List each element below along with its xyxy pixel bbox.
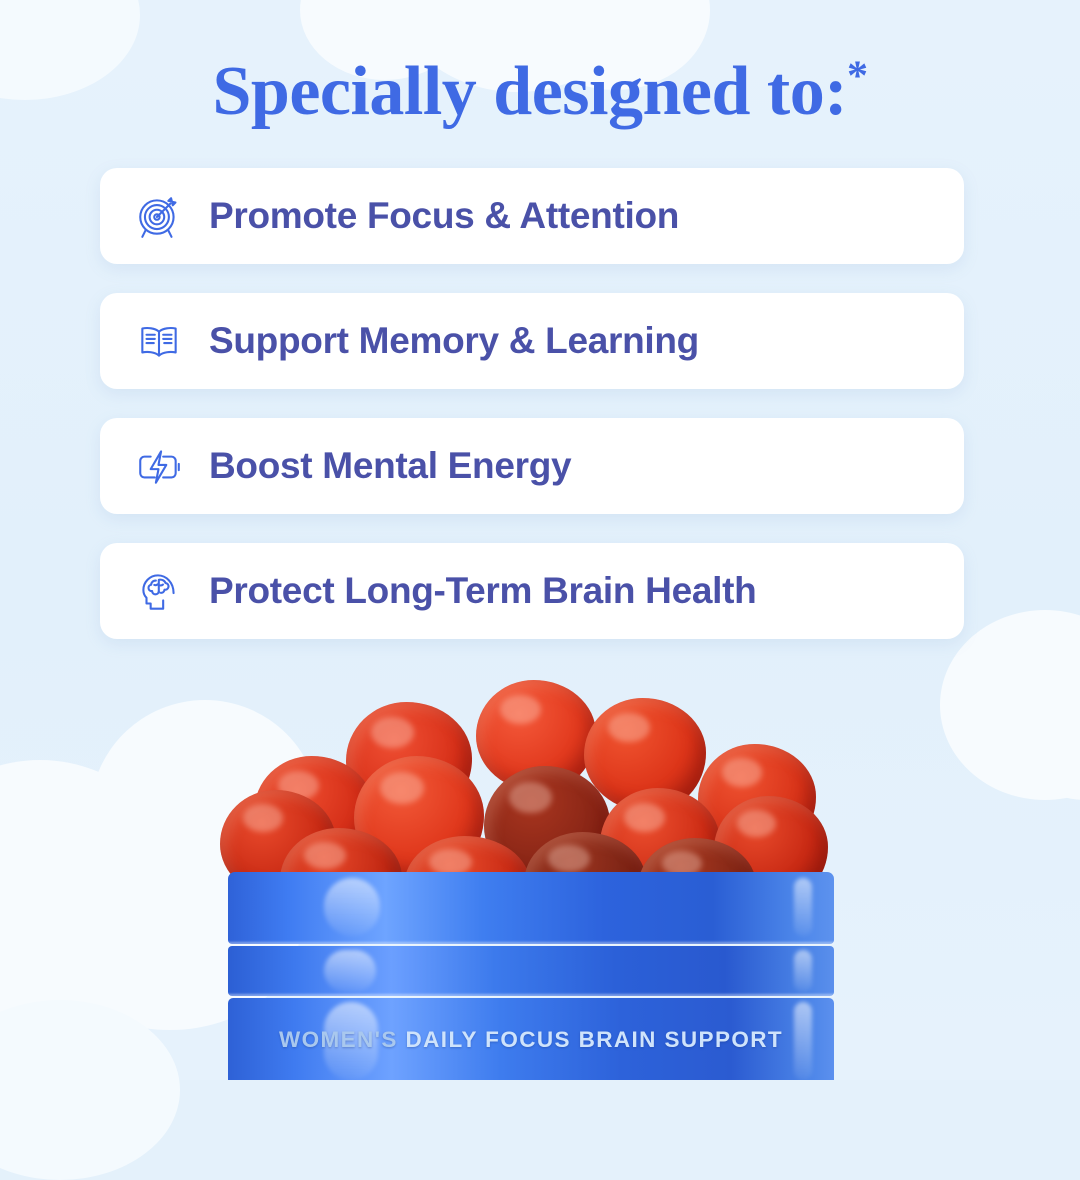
product-label-women: WOMEN'S	[279, 1027, 398, 1052]
product-label: WOMEN'S DAILY FOCUS BRAIN SUPPORT	[228, 1027, 834, 1053]
neck-highlight-edge	[794, 950, 812, 992]
page-title: Specially designed to:*	[0, 52, 1080, 132]
lid-highlight	[324, 878, 380, 936]
jar-neck-ring	[228, 946, 834, 996]
product-image: WOMEN'S DAILY FOCUS BRAIN SUPPORT	[0, 640, 1080, 1080]
brain-head-icon	[133, 565, 185, 617]
feature-card-label: Protect Long-Term Brain Health	[209, 570, 756, 612]
feature-card-list: Promote Focus & Attention Support Memory…	[100, 168, 964, 668]
neck-highlight	[324, 950, 376, 992]
feature-card-protect-brain[interactable]: Protect Long-Term Brain Health	[100, 543, 964, 639]
jar-lid	[228, 872, 834, 944]
feature-card-label: Support Memory & Learning	[209, 320, 699, 362]
disclaimer-asterisk: *	[847, 54, 868, 100]
feature-card-label: Promote Focus & Attention	[209, 195, 679, 237]
gummy-pile	[228, 660, 836, 900]
gummy-jar: WOMEN'S DAILY FOCUS BRAIN SUPPORT	[228, 872, 834, 1080]
feature-card-promote-focus[interactable]: Promote Focus & Attention	[100, 168, 964, 264]
page-title-text: Specially designed to:	[212, 53, 847, 130]
feature-card-support-memory[interactable]: Support Memory & Learning	[100, 293, 964, 389]
lid-highlight-edge	[794, 878, 812, 936]
open-book-icon	[133, 315, 185, 367]
jar-seam-upper	[228, 942, 834, 945]
feature-card-label: Boost Mental Energy	[209, 445, 571, 487]
product-label-rest: DAILY FOCUS BRAIN SUPPORT	[406, 1027, 784, 1052]
feature-card-boost-energy[interactable]: Boost Mental Energy	[100, 418, 964, 514]
battery-bolt-icon	[133, 440, 185, 492]
jar-seam-lower	[228, 994, 834, 997]
target-icon	[133, 190, 185, 242]
